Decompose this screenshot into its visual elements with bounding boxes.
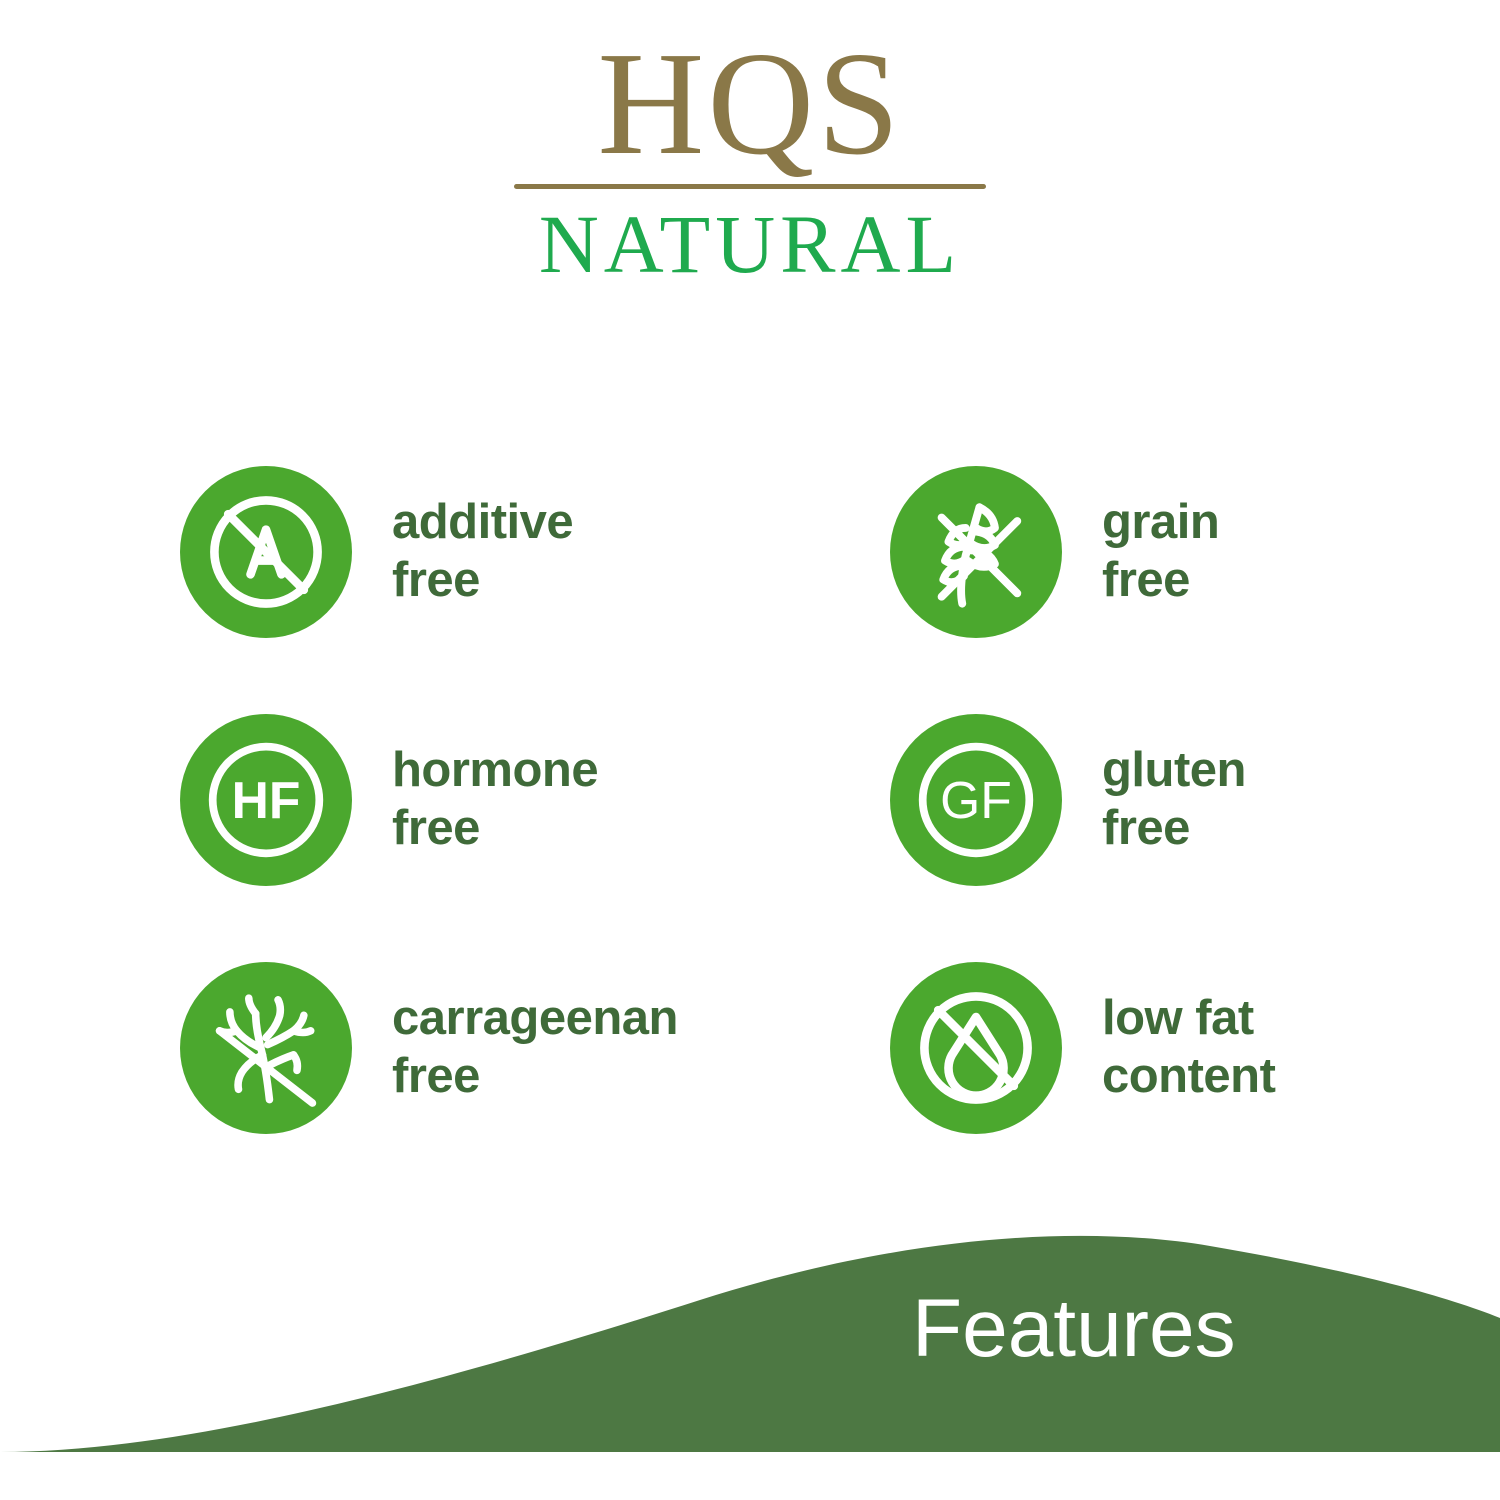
- feature-label-line2: content: [1102, 1049, 1275, 1103]
- feature-label-line1: hormone: [392, 743, 598, 797]
- feature-label-line1: grain: [1102, 495, 1219, 549]
- feature-label-grain-free: grainfree: [1102, 494, 1219, 610]
- feature-item-hormone-free: HF hormonefree: [180, 676, 890, 924]
- infographic-page: HQS NATURAL additivefree: [0, 0, 1500, 1500]
- features-caption: Features: [912, 1288, 1236, 1370]
- feature-label-hormone-free: hormonefree: [392, 742, 598, 858]
- feature-label-line2: free: [1102, 801, 1190, 855]
- badge-gluten-free: GF: [890, 714, 1062, 886]
- feature-label-line1: additive: [392, 495, 573, 549]
- badge-low-fat-content: [890, 962, 1062, 1134]
- badge-letters-hf: HF: [232, 771, 301, 829]
- no-grain-icon: [890, 466, 1062, 638]
- no-additive-icon: [180, 466, 352, 638]
- feature-item-low-fat-content: low fatcontent: [890, 924, 1360, 1172]
- green-hill-shape: [0, 1190, 1500, 1500]
- features-banner: [0, 1190, 1500, 1500]
- brand-tagline: NATURAL: [0, 203, 1500, 286]
- feature-label-line1: gluten: [1102, 743, 1246, 797]
- feature-item-carrageenan-free: carrageenanfree: [180, 924, 890, 1172]
- badge-carrageenan-free: [180, 962, 352, 1134]
- brand-logo: HQS NATURAL: [0, 30, 1500, 286]
- feature-label-additive-free: additivefree: [392, 494, 573, 610]
- feature-item-gluten-free: GF glutenfree: [890, 676, 1360, 924]
- no-carrageenan-icon: [180, 962, 352, 1134]
- feature-label-carrageenan-free: carrageenanfree: [392, 990, 678, 1106]
- feature-label-line1: carrageenan: [392, 991, 678, 1045]
- hormone-free-icon: HF: [180, 714, 352, 886]
- badge-grain-free: [890, 466, 1062, 638]
- badge-additive-free: [180, 466, 352, 638]
- badge-hormone-free: HF: [180, 714, 352, 886]
- feature-label-line1: low fat: [1102, 991, 1254, 1045]
- badge-letters-gf: GF: [940, 771, 1012, 829]
- feature-label-line2: free: [392, 553, 480, 607]
- brand-name: HQS: [0, 30, 1500, 178]
- low-fat-icon: [890, 962, 1062, 1134]
- feature-label-low-fat-content: low fatcontent: [1102, 990, 1275, 1106]
- features-grid: additivefree: [180, 428, 1360, 1172]
- feature-label-line2: free: [392, 1049, 480, 1103]
- gluten-free-icon: GF: [890, 714, 1062, 886]
- feature-item-grain-free: grainfree: [890, 428, 1360, 676]
- feature-label-line2: free: [392, 801, 480, 855]
- feature-label-gluten-free: glutenfree: [1102, 742, 1246, 858]
- feature-label-line2: free: [1102, 553, 1190, 607]
- feature-item-additive-free: additivefree: [180, 428, 890, 676]
